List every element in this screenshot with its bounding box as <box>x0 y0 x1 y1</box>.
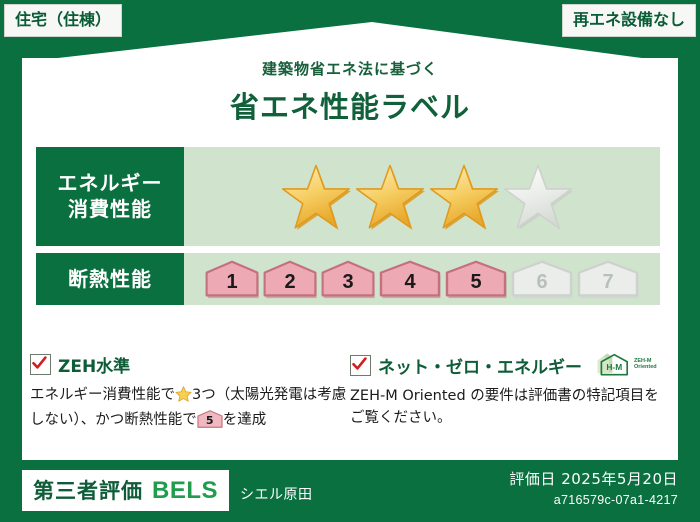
grade-badge-value: 2 <box>262 259 318 299</box>
zeh-m-logo-caption-2: Oriented <box>634 365 657 371</box>
grade-badge-value: 7 <box>576 259 640 299</box>
evaluation-id: a716579c-07a1-4217 <box>509 493 678 507</box>
bels-certification-badge: 第三者評価 BELS <box>22 470 229 511</box>
row-energy-label-line1: エネルギー <box>58 171 163 197</box>
tab-building-type: 住宅（住棟） <box>4 4 122 37</box>
note-net-zero-body: ZEH-M Oriented の要件は評価書の特記項目をご覧ください。 <box>350 385 670 430</box>
grade-badge-value: 6 <box>510 259 574 299</box>
check-icon <box>32 356 47 371</box>
star-filled-icon <box>429 163 499 231</box>
star-empty-icon <box>503 163 573 231</box>
insulation-grade-scale: 1234567 <box>204 259 640 299</box>
star-filled-icon <box>281 163 351 231</box>
svg-text:H-M: H-M <box>606 362 622 372</box>
row-energy-consumption: エネルギー 消費性能 <box>36 147 660 246</box>
page-title: 省エネ性能ラベル <box>0 84 700 126</box>
row-insulation-label: 断熱性能 <box>36 253 184 305</box>
inline-star-icon <box>175 386 192 409</box>
notes-section: ZEH水準 エネルギー消費性能で3つ（太陽光発電は考慮しない）、かつ断熱性能で5… <box>30 352 670 432</box>
evaluation-date: 評価日 2025年5月20日 <box>509 468 678 489</box>
inline-grade-badge: 5 <box>197 410 223 428</box>
star-rating <box>281 163 573 231</box>
grade-badge-value: 5 <box>444 259 508 299</box>
grade-badge-value: 1 <box>204 259 260 299</box>
property-name: シエル原田 <box>240 484 313 504</box>
grade-badge: 3 <box>320 259 376 299</box>
row-energy-label: エネルギー 消費性能 <box>36 147 184 246</box>
note-zeh-standard-title: ZEH水準 <box>58 352 130 377</box>
checkbox-net-zero-energy[interactable] <box>350 355 371 376</box>
energy-performance-label: 住宅（住棟） 再エネ設備なし 建築物省エネ法に基づく 省エネ性能ラベル エネルギ… <box>0 0 700 522</box>
note-zeh-standard: ZEH水準 エネルギー消費性能で3つ（太陽光発電は考慮しない）、かつ断熱性能で5… <box>30 352 350 432</box>
row-insulation-label-text: 断熱性能 <box>68 267 152 291</box>
bels-label-en: BELS <box>152 477 218 505</box>
grade-badge-value: 4 <box>378 259 442 299</box>
title-block: 建築物省エネ法に基づく 省エネ性能ラベル <box>0 58 700 126</box>
check-icon <box>352 357 367 372</box>
footer-bar: 第三者評価 BELS シエル原田 評価日 2025年5月20日 a716579c… <box>0 460 700 522</box>
grade-badge: 2 <box>262 259 318 299</box>
star-filled-icon <box>355 163 425 231</box>
note-zeh-text-c: を達成 <box>223 412 267 428</box>
grade-badge-value: 3 <box>320 259 376 299</box>
inline-grade-value: 5 <box>197 410 223 428</box>
tab-renewable-equipment: 再エネ設備なし <box>562 4 696 37</box>
evaluation-info: 評価日 2025年5月20日 a716579c-07a1-4217 <box>509 468 678 507</box>
grade-badge: 4 <box>378 259 442 299</box>
row-energy-value <box>184 147 660 246</box>
performance-rows: エネルギー 消費性能 断熱性能 1234567 <box>36 147 660 312</box>
note-net-zero-energy: ネット・ゼロ・エネルギー H-M ZEH-M Oriented ZEH-M Or… <box>350 352 670 432</box>
row-energy-label-line2: 消費性能 <box>68 197 152 223</box>
note-net-zero-title: ネット・ゼロ・エネルギー <box>378 353 582 378</box>
title-subtitle: 建築物省エネ法に基づく <box>0 58 700 79</box>
note-zeh-text-a: エネルギー消費性能で <box>30 387 175 403</box>
note-net-zero-header: ネット・ゼロ・エネルギー H-M ZEH-M Oriented <box>350 352 670 378</box>
grade-badge: 6 <box>510 259 574 299</box>
zeh-m-oriented-logo: H-M ZEH-M Oriented <box>593 352 657 378</box>
bels-label-jp: 第三者評価 <box>33 475 143 505</box>
note-zeh-standard-body: エネルギー消費性能で3つ（太陽光発電は考慮しない）、かつ断熱性能で5を達成 <box>30 384 350 432</box>
row-insulation: 断熱性能 1234567 <box>36 253 660 305</box>
row-insulation-value: 1234567 <box>184 253 660 305</box>
grade-badge: 1 <box>204 259 260 299</box>
grade-badge: 7 <box>576 259 640 299</box>
grade-badge: 5 <box>444 259 508 299</box>
note-zeh-standard-header: ZEH水準 <box>30 352 350 377</box>
checkbox-zeh-standard[interactable] <box>30 354 51 375</box>
